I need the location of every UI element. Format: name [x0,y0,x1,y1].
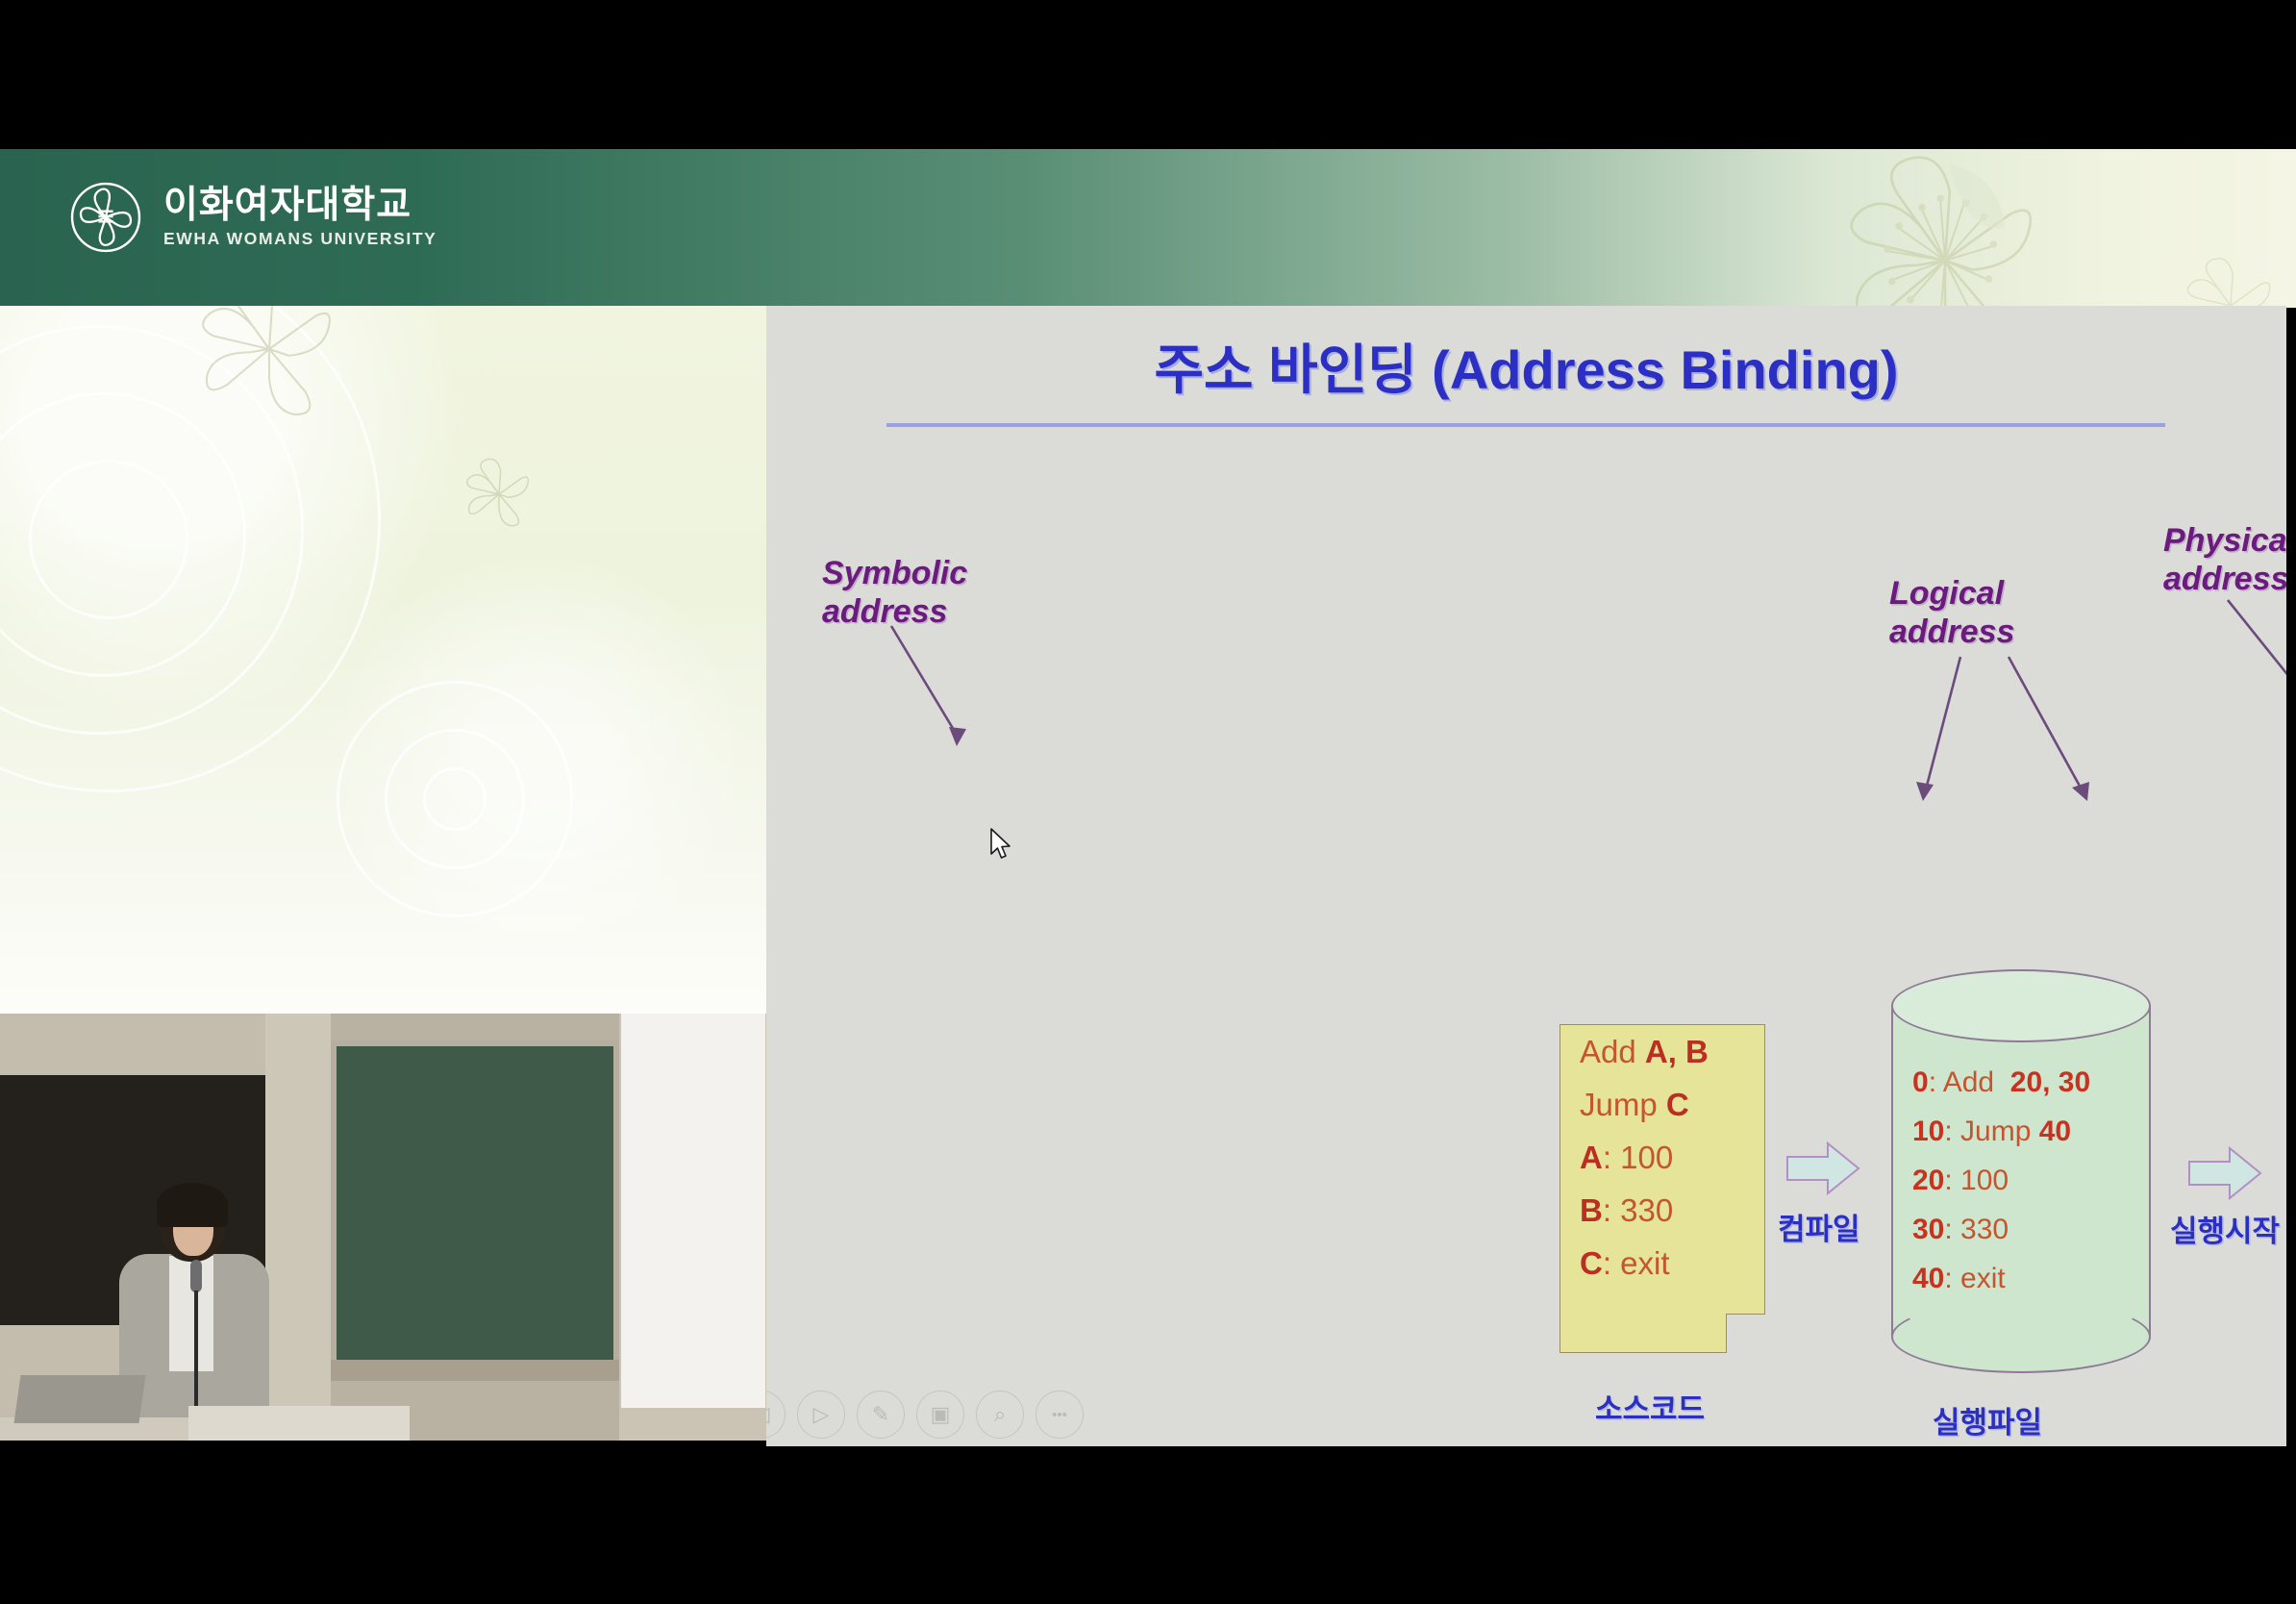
laptop [13,1375,145,1423]
executable-line: 40: exit [1891,1254,2151,1303]
title-underline [886,423,2165,427]
physical-address-line2: address [2163,560,2286,598]
executable-line: 20: 100 [1891,1156,2151,1205]
magnifier-icon: ⌕ [977,1391,1023,1438]
page-title: 주소 바인딩 (Address Binding) [766,327,2286,405]
logical-address-line1: Logical [1889,574,2014,613]
symbolic-address-pointer-arrow [862,621,997,751]
next-slide-button[interactable]: ▷ [797,1391,845,1439]
source-code-line: B: 330 [1560,1184,1764,1237]
zoom-button[interactable]: ⌕ [976,1391,1024,1439]
address-label: 310 [2283,1298,2286,1353]
address-label: 300 [2283,1243,2286,1298]
presentation-toolbar[interactable]: ◁ ▷ ✎ ▣ ⌕ ••• [766,1381,2286,1446]
execution-start-label: 실행시작 [2170,1207,2280,1250]
blossom-watermark-icon [460,455,538,534]
grid-icon: ▣ [917,1391,963,1438]
ewha-crest-icon [69,181,142,254]
symbolic-address-label: Symbolic address [822,554,967,631]
podium [188,1406,410,1441]
microphone-cord [194,1291,198,1425]
source-code-line: Add A, B [1560,1025,1764,1078]
symbolic-address-line1: Symbolic [822,554,967,592]
compile-arrow-label: 컴파일 [1778,1205,1860,1248]
executable-line: 0: Add 20, 30 [1891,1058,2151,1107]
projection-screen: Add A, B Jump C A: 100 B: 330 C: exit 소스… [621,1014,765,1408]
previous-slide-button[interactable]: ◁ [766,1391,786,1439]
logical-address-label: Logical address [1889,574,2014,651]
cylinder-bottom [1891,1300,2151,1373]
pen-icon: ✎ [858,1391,904,1438]
decorative-left-panel [0,306,766,1014]
executable-lines: 0: Add 20, 30 10: Jump 40 20: 100 30: 33… [1891,1058,2151,1303]
logical-address-pointer-arrows [1891,647,2237,811]
university-name-en: EWHA WOMANS UNIVERSITY [163,230,437,248]
executable-file-cylinder: 0: Add 20, 30 10: Jump 40 20: 100 30: 33… [1891,969,2151,1373]
presentation-slide: 주소 바인딩 (Address Binding) Symbolic addres… [766,306,2286,1446]
ewha-logo: 이화여자대학교 EWHA WOMANS UNIVERSITY [69,181,437,254]
pen-annotation-button[interactable]: ✎ [857,1391,905,1439]
more-options-button[interactable]: ••• [1036,1391,1084,1439]
physical-address-label: Physical address [2163,521,2286,598]
ellipsis-icon: ••• [1036,1391,1083,1438]
blossom-watermark-icon [1815,149,2075,308]
mouse-pointer-icon [989,828,1014,863]
screen-root: 이화여자대학교 EWHA WOMANS UNIVERSITY [0,0,2296,1604]
page-fold-corner [1726,1314,1765,1353]
executable-line: 10: Jump 40 [1891,1107,2151,1156]
ripple-ring [423,767,487,831]
blossom-watermark-small-icon [2173,253,2288,308]
source-code-line: Jump C [1560,1078,1764,1131]
cylinder-top [1891,969,2151,1042]
source-code-line: A: 100 [1560,1131,1764,1184]
source-code-note: Add A, B Jump C A: 100 B: 330 C: exit [1560,1024,1765,1353]
compile-arrow-icon [1785,1140,1860,1197]
microphone-icon [190,1260,202,1292]
next-slide-icon: ▷ [798,1391,844,1438]
logical-address-line2: address [1889,613,2014,651]
lecturer-hair [157,1183,228,1227]
slide-overview-button[interactable]: ▣ [916,1391,964,1439]
physical-address-line1: Physical [2163,521,2286,560]
blossom-watermark-icon [187,306,351,431]
source-code-line: C: exit [1560,1237,1764,1290]
classroom-pillar [265,1014,331,1441]
university-name-kr: 이화여자대학교 [163,187,437,226]
physical-address-pointer-arrow [2218,594,2286,787]
lecturer-video-feed[interactable]: Add A, B Jump C A: 100 B: 330 C: exit 소스… [0,1014,766,1441]
chalk-ledge [331,1360,619,1381]
classroom-chalkboard [331,1040,619,1371]
execution-start-arrow-icon [2187,1144,2262,1202]
previous-slide-icon: ◁ [766,1391,785,1438]
executable-line: 30: 330 [1891,1205,2151,1254]
